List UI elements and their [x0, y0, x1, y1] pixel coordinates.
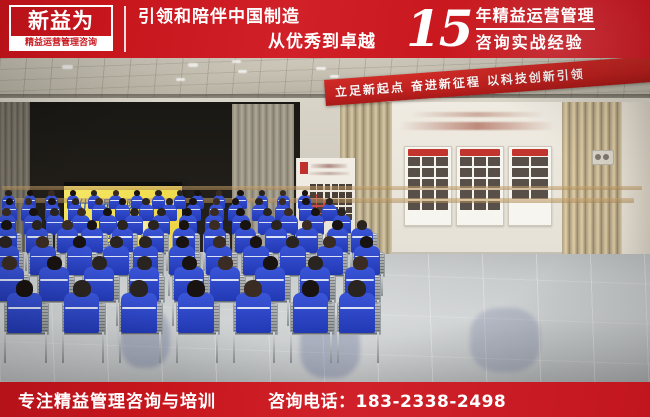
chair-leg	[172, 300, 174, 326]
exhibit-photo-cell	[512, 157, 529, 166]
person-head	[77, 208, 86, 216]
person-head	[210, 208, 219, 216]
reflective-stripe	[85, 279, 113, 281]
person-head	[323, 236, 336, 248]
chair-leg	[62, 332, 64, 363]
chair-leg	[25, 252, 27, 271]
ceiling-light-icon	[330, 75, 339, 78]
person-head	[213, 198, 221, 205]
map-grid-cell	[346, 192, 352, 198]
exhibit-photo-cell	[408, 168, 420, 177]
uniform-body	[293, 293, 328, 333]
reflective-stripe	[175, 200, 186, 201]
exhibit-photo-cell	[488, 168, 500, 177]
person-head	[95, 198, 103, 205]
person-head	[16, 280, 34, 297]
wall-right-edge	[622, 102, 650, 254]
person-head	[25, 198, 33, 205]
map-grid-cell	[317, 192, 323, 198]
person-head	[218, 256, 233, 270]
person-head	[117, 220, 128, 230]
floor-reflection	[470, 308, 540, 372]
reflective-stripe	[211, 279, 239, 281]
exhibit-wall-title	[400, 122, 555, 130]
exhibit-photo-cell	[512, 168, 529, 177]
person-head	[166, 198, 174, 205]
person-head	[177, 190, 183, 196]
person-head	[280, 190, 286, 196]
reflective-stripe	[266, 236, 286, 237]
person-head	[92, 256, 107, 270]
person-head	[72, 198, 80, 205]
reflective-stripe	[237, 307, 270, 309]
reflective-stripe	[82, 236, 102, 237]
exhibit-board-header	[512, 149, 548, 156]
person-head	[110, 236, 123, 248]
exhibit-photo-cell	[436, 168, 448, 177]
person-head	[360, 236, 373, 248]
reflective-stripe	[281, 222, 297, 223]
chair-leg	[377, 332, 379, 363]
person-head	[155, 190, 161, 196]
experience-years-text: 年精益运营管理 咨询实战经验	[476, 5, 595, 54]
map-grid-cell	[310, 192, 316, 198]
person-head	[302, 280, 320, 297]
person-head	[36, 236, 49, 248]
experience-years-number: 15	[406, 4, 472, 54]
chair-leg	[287, 300, 289, 326]
experience-line-1: 年精益运营管理	[476, 5, 595, 30]
reflective-stripe	[100, 222, 116, 223]
person-head	[348, 280, 366, 297]
person-head	[263, 256, 278, 270]
person-head	[73, 280, 91, 297]
person-head	[137, 256, 152, 270]
person-head	[302, 220, 313, 230]
exhibit-wall-subtitle	[410, 112, 545, 117]
chair-leg	[4, 332, 6, 363]
person-head	[27, 190, 33, 196]
reflective-stripe	[132, 200, 143, 201]
person-head	[182, 256, 197, 270]
person-head	[130, 280, 148, 297]
ceiling-light-icon	[238, 70, 247, 73]
exhibit-board-header	[408, 149, 448, 156]
header-slogan: 引领和陪伴中国制造 从优秀到卓越	[136, 5, 386, 55]
wall-speaker-icon	[592, 150, 614, 165]
reflective-stripe	[153, 200, 164, 201]
person-head	[263, 208, 272, 216]
person-head	[5, 190, 11, 196]
reflective-stripe	[47, 222, 63, 223]
chair-leg	[168, 274, 170, 296]
person-head	[134, 190, 140, 196]
person-head	[209, 220, 220, 230]
reflective-stripe	[256, 279, 284, 281]
person-head	[87, 220, 98, 230]
person-head	[157, 208, 166, 216]
person-head	[240, 220, 251, 230]
person-head	[62, 220, 73, 230]
uniform-body	[210, 267, 240, 301]
person-head	[142, 198, 150, 205]
person-head	[332, 220, 343, 230]
chair-leg	[290, 332, 292, 363]
person-head	[6, 198, 14, 205]
person-head	[189, 198, 197, 205]
person-head	[216, 190, 222, 196]
exhibit-photo-cell	[408, 157, 420, 166]
footer-slogan: 专注精益管理咨询与培训	[18, 387, 216, 412]
person-head	[47, 256, 62, 270]
chair-leg	[159, 332, 161, 363]
person-head	[139, 236, 152, 248]
ceiling-light-icon	[316, 67, 326, 70]
person-head	[311, 208, 320, 216]
person-head	[326, 198, 334, 205]
person-head	[279, 198, 287, 205]
ceiling-light-icon	[232, 60, 241, 63]
experience-badge: 15 年精益运营管理 咨询实战经验	[406, 0, 646, 58]
exhibit-photo-cell	[531, 168, 548, 177]
chair-leg	[176, 332, 178, 363]
person-head	[1, 220, 12, 230]
slogan-line-2: 从优秀到卓越	[136, 30, 386, 54]
chair-leg	[102, 332, 104, 363]
person-head	[187, 280, 205, 297]
ceiling-light-icon	[188, 63, 198, 67]
person-head	[179, 220, 190, 230]
reflective-stripe	[126, 222, 142, 223]
person-head	[119, 198, 127, 205]
person-head	[302, 190, 308, 196]
person-head	[91, 190, 97, 196]
desk	[14, 198, 634, 203]
person-head	[0, 236, 12, 248]
person-head	[259, 190, 265, 196]
map-wall-title	[311, 164, 347, 168]
exhibit-photo-cell	[460, 157, 472, 166]
uniform-body	[178, 293, 213, 333]
reflective-stripe	[179, 307, 212, 309]
map-grid-cell	[339, 192, 345, 198]
person-head	[48, 198, 56, 205]
person-head	[353, 256, 368, 270]
curtain-right-2	[562, 102, 622, 254]
chair-leg	[119, 332, 121, 363]
person-head	[194, 190, 200, 196]
reflective-stripe	[8, 307, 41, 309]
person-head	[237, 190, 243, 196]
ceiling-light-icon	[176, 78, 185, 81]
map-grid-cell	[346, 207, 352, 213]
slogan-line-1: 引领和陪伴中国制造	[136, 5, 386, 30]
person-head	[73, 236, 86, 248]
exhibit-photo-cell	[460, 168, 472, 177]
chair-leg	[381, 274, 383, 296]
uniform-body	[64, 293, 99, 333]
person-head	[32, 220, 43, 230]
person-head	[255, 198, 263, 205]
reflective-stripe	[65, 307, 98, 309]
training-room-photo: 什么是团队 一个之家	[0, 58, 650, 382]
reflective-stripe	[340, 307, 373, 309]
person-head	[244, 280, 262, 297]
exhibit-photo-cell	[422, 168, 434, 177]
exhibit-photo-cell	[531, 157, 548, 166]
map-grid-cell	[332, 192, 338, 198]
vertical-divider-icon	[124, 6, 126, 52]
footer-phone[interactable]: 咨询电话：183-2338-2498	[268, 387, 506, 412]
logo-tagline: 精益运营管理咨询	[9, 36, 113, 51]
person-head	[271, 220, 282, 230]
experience-line-2: 咨询实战经验	[476, 30, 595, 54]
person-head	[302, 198, 310, 205]
exhibit-photo-cell	[474, 157, 486, 166]
uniform-body	[121, 293, 156, 333]
person-head	[2, 256, 17, 270]
reflective-stripe	[294, 307, 327, 309]
chair-leg	[337, 332, 339, 363]
chair-leg	[116, 300, 118, 326]
person-head	[130, 208, 139, 216]
header-bar: 新益为 精益运营管理咨询 引领和陪伴中国制造 从优秀到卓越 15 年精益运营管理…	[0, 0, 650, 58]
chair-leg	[330, 332, 332, 363]
reflective-stripe	[122, 307, 155, 309]
logo-name: 新益为	[9, 5, 113, 36]
person-head	[48, 190, 54, 196]
reflective-stripe	[297, 236, 317, 237]
exhibit-photo-cell	[436, 157, 448, 166]
exhibit-photo-cell	[474, 168, 486, 177]
person-head	[232, 198, 240, 205]
chair-leg	[233, 332, 235, 363]
chair-leg	[45, 332, 47, 363]
person-head	[176, 236, 189, 248]
footer-bar: 专注精益管理咨询与培训 咨询电话：183-2338-2498	[0, 382, 650, 417]
ceiling-light-icon	[62, 65, 73, 69]
chair-leg	[273, 332, 275, 363]
person-head	[308, 256, 323, 270]
person-head	[213, 236, 226, 248]
promo-banner: 新益为 精益运营管理咨询 引领和陪伴中国制造 从优秀到卓越 15 年精益运营管理…	[0, 0, 650, 417]
red-flag-icon	[300, 162, 308, 174]
chair-leg	[216, 332, 218, 363]
reflective-stripe	[40, 279, 68, 281]
exhibit-board-header	[460, 149, 500, 156]
person-head	[286, 236, 299, 248]
person-head	[357, 220, 368, 230]
uniform-body	[339, 293, 374, 333]
desk	[2, 186, 642, 190]
person-head	[70, 190, 76, 196]
person-head	[250, 236, 263, 248]
uniform-body	[7, 293, 42, 333]
map-wall-subtitle	[309, 172, 349, 175]
map-grid-cell	[325, 192, 331, 198]
uniform-body	[236, 293, 271, 333]
person-head	[148, 220, 159, 230]
company-logo[interactable]: 新益为 精益运营管理咨询	[9, 5, 113, 53]
exhibit-photo-cell	[488, 157, 500, 166]
person-head	[113, 190, 119, 196]
person-head	[29, 208, 38, 216]
exhibit-photo-cell	[422, 157, 434, 166]
